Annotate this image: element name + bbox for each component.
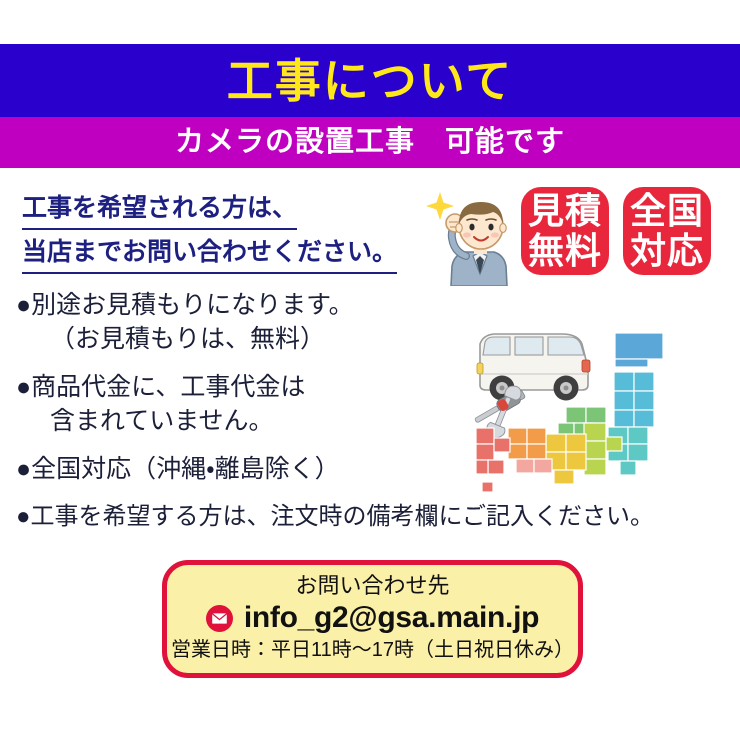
page-title: 工事について bbox=[0, 48, 740, 114]
poster-root: 工事について カメラの設置工事 可能です 工事を希望される方は、 当店までお問い… bbox=[0, 0, 740, 740]
contact-hours: 営業日時：平日11時～17時（土日祝日休み） bbox=[167, 637, 578, 663]
badge-group: 見積 無料 全国 対応 bbox=[521, 187, 711, 275]
construction-worker-icon bbox=[424, 182, 532, 286]
envelope-icon bbox=[206, 605, 233, 632]
contact-box: お問い合わせ先 info_g2@gsa.main.jp 営業日時：平日11時～1… bbox=[162, 560, 583, 678]
badge-nationwide-line1: 全国 bbox=[630, 191, 704, 231]
lead-paragraph: 工事を希望される方は、 当店までお問い合わせください。 bbox=[22, 189, 397, 274]
contact-email-row: info_g2@gsa.main.jp bbox=[167, 601, 578, 635]
badge-nationwide-line2: 対応 bbox=[630, 231, 704, 271]
lead-line-1: 工事を希望される方は、 bbox=[22, 189, 297, 230]
badge-free-estimate-line1: 見積 bbox=[528, 191, 602, 231]
lead-line-2: 当店までお問い合わせください。 bbox=[22, 233, 397, 274]
badge-nationwide: 全国 対応 bbox=[623, 187, 711, 275]
bullet-1-line-1: ●別途お見積もりになります。 bbox=[16, 288, 736, 322]
contact-title: お問い合わせ先 bbox=[167, 572, 578, 600]
badge-free-estimate-line2: 無料 bbox=[528, 231, 602, 271]
badge-free-estimate: 見積 無料 bbox=[521, 187, 609, 275]
contact-email[interactable]: info_g2@gsa.main.jp bbox=[244, 601, 539, 635]
page-subtitle: カメラの設置工事 可能です bbox=[0, 120, 740, 165]
white-van-icon bbox=[477, 334, 590, 401]
service-illustration bbox=[468, 330, 683, 495]
bullet-4-line-1: ●工事を希望する方は、注文時の備考欄にご記入ください。 bbox=[16, 500, 736, 534]
list-item: ●工事を希望する方は、注文時の備考欄にご記入ください。 bbox=[16, 500, 736, 534]
